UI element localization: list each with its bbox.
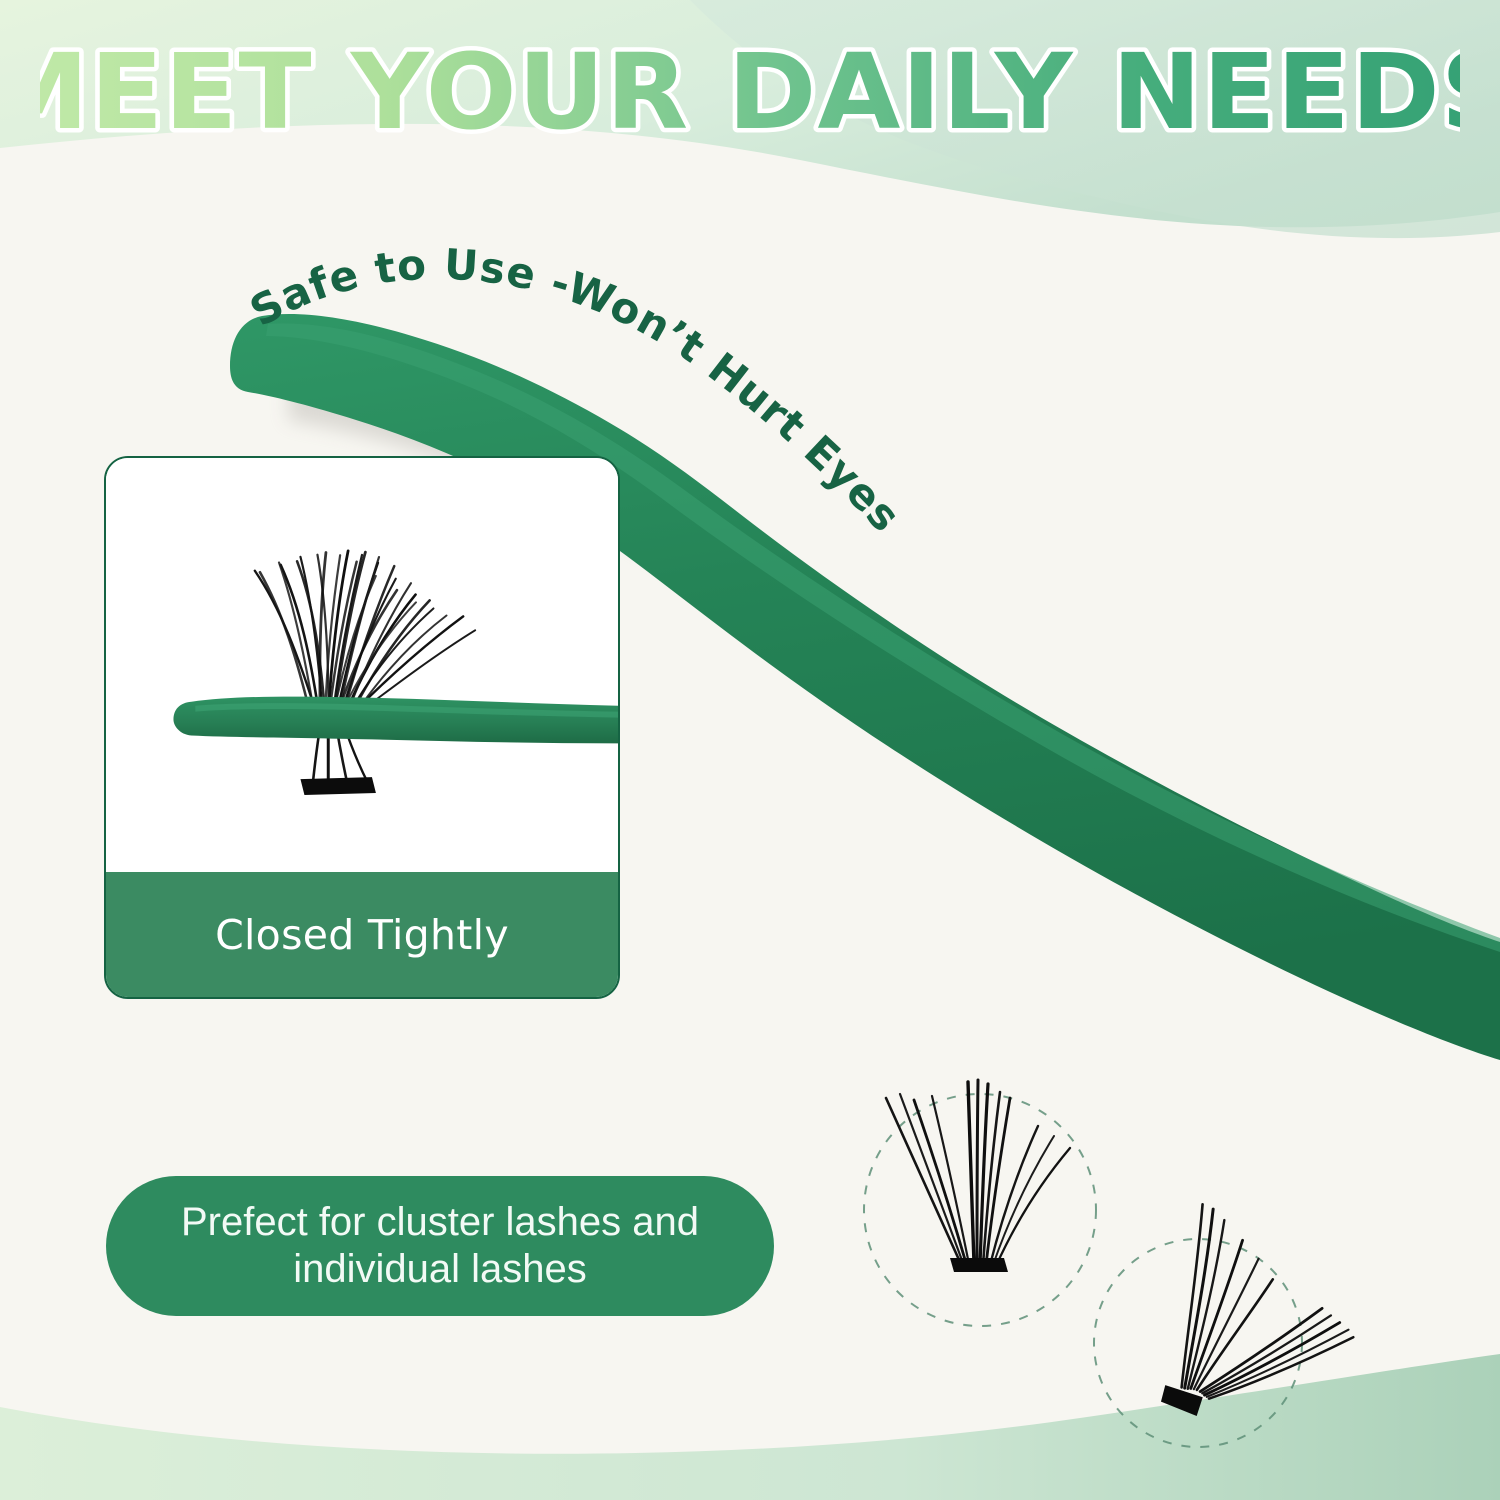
page-title: MEET YOUR DAILY NEEDS <box>0 36 1500 156</box>
closed-tightly-caption-label: Closed Tightly <box>215 911 509 959</box>
lash-swatch-cluster <box>832 1022 1162 1352</box>
bottom-wave-shape <box>0 1354 1500 1500</box>
closed-tightly-card: Closed Tightly <box>104 456 620 999</box>
product-feature-poster: MEET YOUR DAILY NEEDS <box>0 0 1500 1500</box>
dashed-circle-decor <box>1094 1239 1302 1447</box>
closed-tightly-caption-bar: Closed Tightly <box>106 872 618 997</box>
page-title-svg: MEET YOUR DAILY NEEDS <box>40 36 1460 156</box>
feature-pill[interactable]: Prefect for cluster lashes and individua… <box>106 1176 774 1316</box>
lash-fan-upright <box>886 1080 1070 1272</box>
closed-tightly-photo <box>106 458 618 876</box>
page-title-text: MEET YOUR DAILY NEEDS <box>40 36 1460 153</box>
lash-swatch-cluster-svg <box>832 1022 1162 1352</box>
feature-pill-label: Prefect for cluster lashes and individua… <box>140 1199 740 1293</box>
lash-swatch-individual <box>1086 1155 1436 1475</box>
dashed-circle-decor <box>864 1094 1096 1326</box>
lash-fan-angled <box>1141 1190 1360 1420</box>
closed-tightly-photo-svg <box>106 458 618 876</box>
lash-swatch-individual-svg <box>1086 1155 1436 1475</box>
